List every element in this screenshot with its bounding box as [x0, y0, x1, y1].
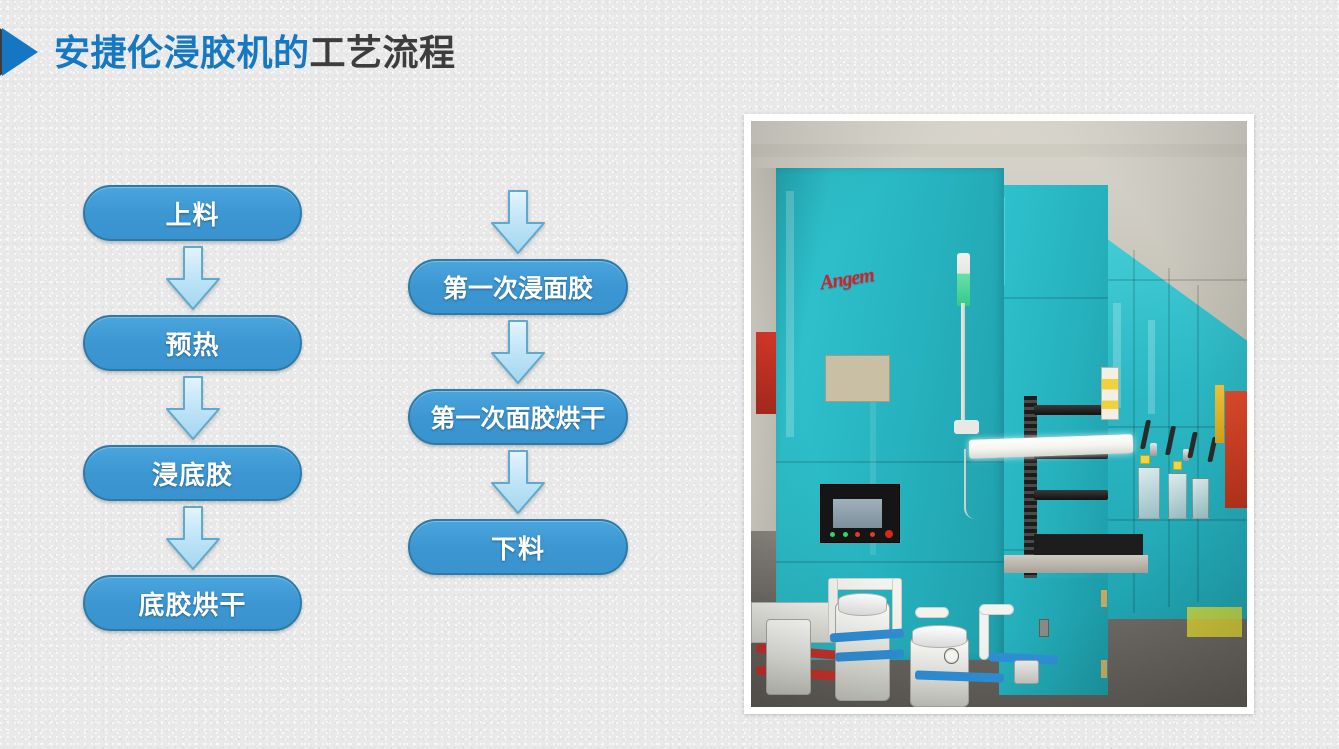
photo-emergency-stop — [885, 530, 893, 538]
page-title-dark: 工艺流程 — [310, 32, 456, 73]
slide-canvas: 安捷伦浸胶机的工艺流程 上料 预热 — [0, 0, 1339, 749]
photo-rail — [1034, 405, 1108, 414]
photo-panel-seam — [776, 561, 1004, 563]
flow-column-1: 上料 预热 浸底胶 — [83, 185, 302, 631]
photo-viewing-window — [1138, 467, 1160, 520]
photo-hinge — [1101, 590, 1107, 608]
arrow-down-icon — [489, 319, 547, 385]
flow-arrow-down — [83, 371, 302, 445]
title-marker-icon — [0, 22, 52, 84]
photo-valve-block — [1014, 660, 1039, 683]
arrow-down-icon — [489, 449, 547, 515]
flow-arrow-down-entry — [408, 185, 628, 259]
photo-viewing-window — [1192, 478, 1209, 519]
arrow-down-icon — [164, 245, 222, 311]
photo-stack-light — [957, 253, 970, 306]
flow-node-label: 第一次浸面胶 — [443, 269, 593, 305]
flow-node-diyicijinmianjiao[interactable]: 第一次浸面胶 — [408, 259, 628, 315]
flow-node-diyicimianjiaohonggan[interactable]: 第一次面胶烘干 — [408, 389, 628, 445]
photo-glue-pot — [766, 619, 811, 695]
flow-node-xialiao[interactable]: 下料 — [408, 519, 628, 575]
flow-arrow-down — [408, 315, 628, 389]
flow-node-label: 底胶烘干 — [138, 585, 246, 622]
slide-title-bar: 安捷伦浸胶机的工艺流程 — [0, 22, 456, 84]
photo-white-hose — [979, 604, 1014, 615]
photo-ceiling-beam — [751, 144, 1247, 157]
machine-photo-frame: Angem — [744, 114, 1254, 714]
page-title: 安捷伦浸胶机的工艺流程 — [52, 35, 456, 71]
arrow-down-icon — [489, 189, 547, 255]
flow-node-dijiaohonggan[interactable]: 底胶烘干 — [83, 575, 302, 631]
photo-panel-seam — [1098, 519, 1247, 521]
photo-viewing-window — [1168, 473, 1188, 520]
photo-lock — [1039, 619, 1049, 637]
flow-node-label: 第一次面胶烘干 — [430, 399, 605, 435]
photo-yellow-post — [1215, 385, 1224, 444]
flow-column-2: 第一次浸面胶 第一次面胶烘干 下料 — [408, 185, 628, 575]
flow-arrow-down — [408, 445, 628, 519]
photo-lamp-bracket — [954, 420, 979, 434]
photo-white-hose — [915, 607, 950, 618]
photo-pressure-gauge — [944, 648, 959, 663]
flow-node-jindijiao[interactable]: 浸底胶 — [83, 445, 302, 501]
photo-panel-highlight — [1148, 320, 1155, 414]
photo-pot-lid — [838, 593, 888, 616]
photo-safety-label — [1101, 367, 1119, 420]
machine-photo: Angem — [751, 121, 1247, 707]
photo-cable — [964, 449, 975, 519]
photo-white-hose — [830, 578, 899, 590]
photo-panel-highlight — [786, 191, 794, 437]
photo-panel-seam — [1197, 285, 1199, 601]
flow-node-shangliao[interactable]: 上料 — [83, 185, 302, 241]
flow-node-label: 浸底胶 — [152, 455, 233, 492]
flow-node-label: 下料 — [491, 529, 545, 566]
page-title-accent: 安捷伦浸胶机的 — [54, 32, 310, 73]
photo-cabinet-handle — [1150, 443, 1157, 456]
arrow-down-icon — [164, 375, 222, 441]
photo-tray-shelf — [999, 555, 1148, 574]
flow-node-yure[interactable]: 预热 — [83, 315, 302, 371]
flow-arrow-down — [83, 501, 302, 575]
photo-hinge — [1101, 660, 1107, 678]
photo-rail — [1034, 490, 1108, 499]
photo-stack-light-pole — [961, 303, 965, 426]
photo-warning-sticker — [1173, 461, 1182, 470]
flow-node-label: 上料 — [165, 195, 219, 232]
triangle-blue-icon — [2, 28, 38, 76]
photo-name-plate — [825, 355, 889, 402]
photo-fire-cabinet — [1225, 391, 1247, 508]
photo-panel-seam — [994, 297, 1108, 299]
photo-white-hose — [979, 607, 989, 660]
photo-panel-seam — [1098, 279, 1247, 281]
arrow-down-icon — [164, 505, 222, 571]
photo-floor-marking — [1187, 607, 1242, 636]
photo-warning-sticker — [1140, 455, 1150, 464]
photo-control-screen — [833, 499, 883, 528]
flow-arrow-down — [83, 241, 302, 315]
photo-pot-lid — [912, 625, 967, 648]
flow-node-label: 预热 — [165, 325, 219, 362]
